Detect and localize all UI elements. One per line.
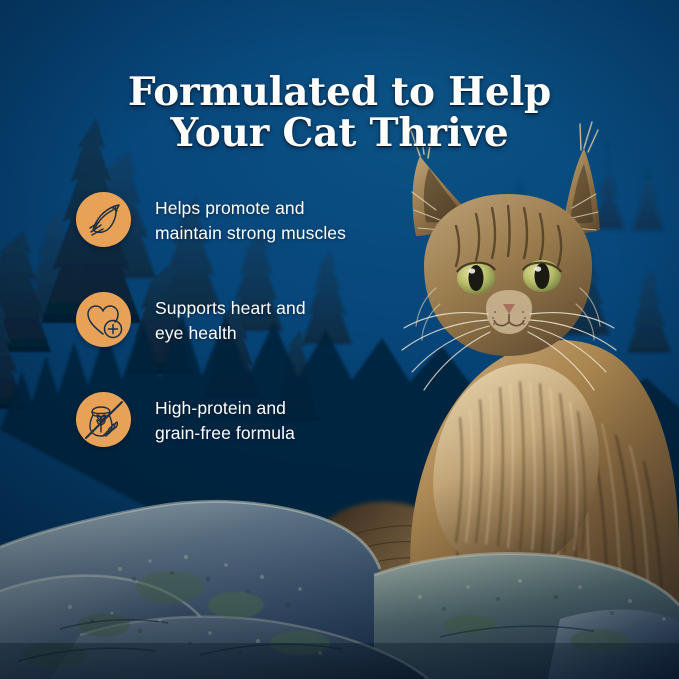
benefit-line-1: High-protein and xyxy=(155,398,286,418)
benefit-line-2: eye health xyxy=(155,323,237,343)
benefit-icon-circle xyxy=(76,392,131,447)
no-grain-sack-icon xyxy=(76,392,131,447)
benefits-list: Helps promote and maintain strong muscle… xyxy=(76,192,406,492)
benefit-icon-circle xyxy=(76,192,131,247)
benefit-text: High-protein and grain-free formula xyxy=(155,396,405,446)
benefit-line-1: Helps promote and xyxy=(155,198,305,218)
page-title: Formulated to Help Your Cat Thrive xyxy=(0,72,679,155)
headline-line-1: Formulated to Help xyxy=(128,69,551,115)
benefit-line-1: Supports heart and xyxy=(155,298,306,318)
product-benefits-banner: Formulated to Help Your Cat Thrive xyxy=(0,0,679,679)
benefit-line-2: maintain strong muscles xyxy=(155,223,346,243)
benefit-item-heart-eye: Supports heart and eye health xyxy=(76,292,406,392)
muscle-icon xyxy=(76,192,131,247)
benefit-item-grain-free: High-protein and grain-free formula xyxy=(76,392,406,492)
benefit-item-muscles: Helps promote and maintain strong muscle… xyxy=(76,192,406,292)
benefit-text: Helps promote and maintain strong muscle… xyxy=(155,196,405,246)
heart-plus-icon xyxy=(76,292,131,347)
benefit-icon-circle xyxy=(76,292,131,347)
headline-line-2: Your Cat Thrive xyxy=(0,113,679,154)
benefit-line-2: grain-free formula xyxy=(155,423,295,443)
benefit-text: Supports heart and eye health xyxy=(155,296,405,346)
